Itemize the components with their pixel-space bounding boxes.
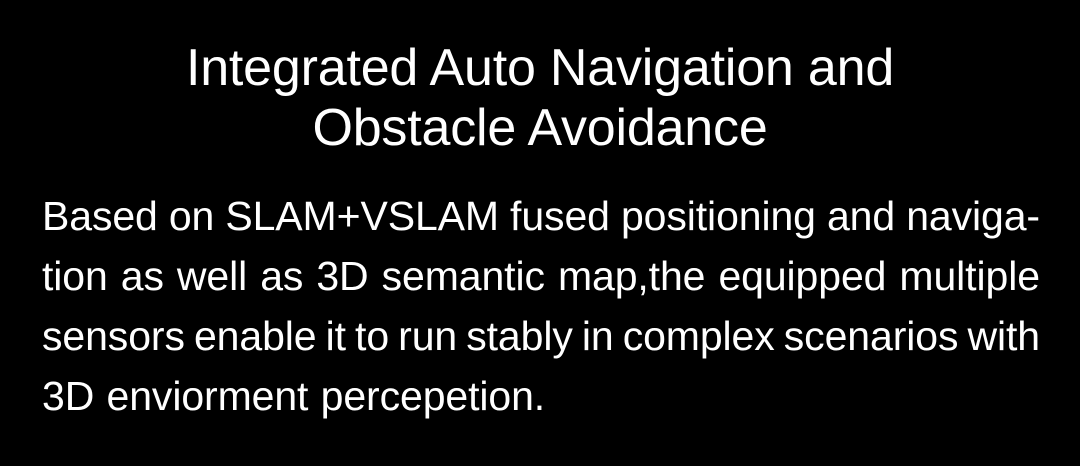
slide-title-line-1: Integrated Auto Navigation and	[0, 38, 1080, 98]
body-word: tion	[42, 246, 108, 306]
body-word: stably	[466, 306, 573, 366]
body-word: run	[398, 306, 457, 366]
body-word: it	[326, 306, 346, 366]
slide-body-paragraph: Based on SLAM+VSLAM fused positioning an…	[42, 186, 1040, 426]
body-word: fused	[510, 186, 610, 246]
body-line-1: Based on SLAM+VSLAM fused positioning an…	[42, 186, 1040, 246]
body-word: and	[827, 186, 895, 246]
body-word: naviga-	[906, 186, 1040, 246]
body-word: scenarios	[784, 306, 959, 366]
body-word: SLAM+VSLAM	[225, 186, 499, 246]
body-word: percepetion.	[321, 366, 545, 426]
body-word: well	[177, 246, 247, 306]
slide-canvas: Integrated Auto Navigation and Obstacle …	[0, 0, 1080, 466]
body-word: map,the	[558, 246, 705, 306]
body-word: as	[260, 246, 303, 306]
body-word: on	[169, 186, 214, 246]
body-word: enable	[194, 306, 317, 366]
body-word: complex	[623, 306, 775, 366]
body-word: as	[121, 246, 164, 306]
slide-title-line-2: Obstacle Avoidance	[0, 98, 1080, 158]
body-word: equipped	[718, 246, 886, 306]
body-word: sensors	[42, 306, 185, 366]
body-word: with	[967, 306, 1040, 366]
body-line-4: 3D enviorment percepetion.	[42, 366, 1040, 426]
body-word: 3D	[316, 246, 368, 306]
body-word: in	[582, 306, 614, 366]
body-word: 3D	[42, 366, 94, 426]
body-line-3: sensors enable it to run stably in compl…	[42, 306, 1040, 366]
body-line-2: tion as well as 3D semantic map,the equi…	[42, 246, 1040, 306]
slide-title: Integrated Auto Navigation and Obstacle …	[0, 38, 1080, 158]
body-word: multiple	[899, 246, 1039, 306]
body-word: semantic	[382, 246, 545, 306]
body-word: Based	[42, 186, 158, 246]
body-word: positioning	[621, 186, 816, 246]
body-word: to	[355, 306, 389, 366]
body-word: enviorment	[107, 366, 309, 426]
